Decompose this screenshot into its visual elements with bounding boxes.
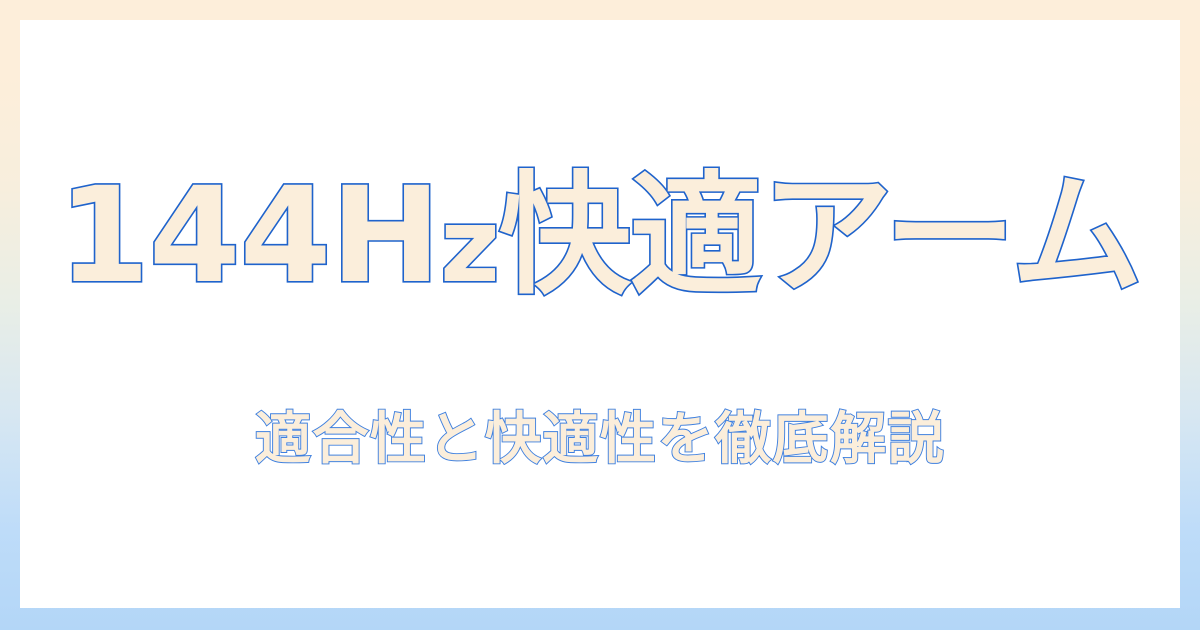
page-title-hz-suffix: z: [440, 186, 499, 306]
hero-content: 144Hz快適アーム 適合性と快適性を徹底解説: [20, 20, 1180, 608]
outer-gradient-frame: 144Hz快適アーム 適合性と快適性を徹底解説: [0, 0, 1200, 630]
page-title: 144Hz快適アーム: [20, 163, 1180, 311]
page-title-rest: 快適アーム: [499, 159, 1142, 313]
white-card: 144Hz快適アーム 適合性と快適性を徹底解説: [20, 20, 1180, 608]
page-subtitle: 適合性と快適性を徹底解説: [20, 408, 1180, 472]
page-title-main: 144H: [58, 159, 440, 313]
